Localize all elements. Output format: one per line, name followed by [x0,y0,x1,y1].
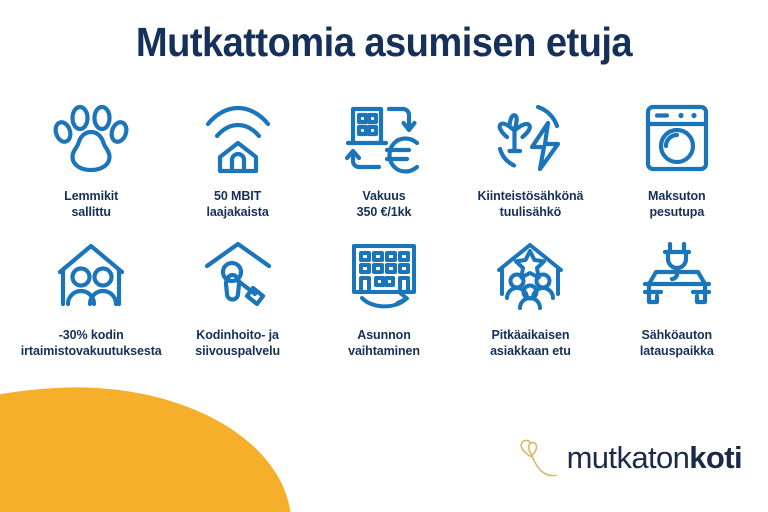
benefit-label: Pitkäaikaisen asiakkaan etu [490,327,571,359]
benefits-grid: Lemmikit sallittu 50 MBIT laajakaista [18,96,750,359]
heart-swoosh-icon [514,434,560,482]
benefit-label: Kodinhoito- ja siivouspalvelu [195,327,280,359]
benefit-item-cleaning: Kodinhoito- ja siivouspalvelu [164,234,310,359]
benefits-row-2: -30% kodin irtaimistovakuutuksesta Kodin… [18,234,750,359]
benefit-item-laundry: Maksuton pesutupa [604,96,750,220]
benefit-item-broadband: 50 MBIT laajakaista [164,96,310,220]
benefit-label: 50 MBIT laajakaista [207,188,269,220]
benefit-label: -30% kodin irtaimistovakuutuksesta [21,327,162,359]
benefit-label: Lemmikit sallittu [64,188,118,220]
benefit-item-ev-charging: Sähköauton latauspaikka [604,234,750,359]
benefit-item-home-insurance: -30% kodin irtaimistovakuutuksesta [18,234,164,359]
benefit-item-loyalty: Pitkäaikaisen asiakkaan etu [457,234,603,359]
benefit-label: Sähköauton latauspaikka [640,327,714,359]
decorative-yellow-blob [0,380,293,512]
apartment-swap-icon [345,234,423,318]
logo-text-bold: koti [689,440,742,475]
benefit-item-pets: Lemmikit sallittu [18,96,164,220]
benefits-row-1: Lemmikit sallittu 50 MBIT laajakaista [18,96,750,220]
logo-wordmark: mutkatonkoti [567,441,742,475]
wind-power-icon [490,96,570,180]
infographic-page: Mutkattomia asumisen etuja Lemmikit sall… [0,0,768,512]
wifi-house-icon [200,96,276,180]
cleaning-icon [200,234,276,318]
benefit-label: Asunnon vaihtaminen [348,327,420,359]
building-euro-icon [343,96,425,180]
benefit-item-deposit: Vakuus 350 €/1kk [311,96,457,220]
house-star-icon [491,234,569,318]
benefit-label: Kiinteistösähkönä tuulisähkö [477,188,583,220]
washing-machine-icon [641,96,713,180]
benefit-item-windpower: Kiinteistösähkönä tuulisähkö [457,96,603,220]
benefit-item-apartment-swap: Asunnon vaihtaminen [311,234,457,359]
paw-icon [52,96,130,180]
page-title: Mutkattomia asumisen etuja [27,18,741,66]
ev-charging-icon [637,234,717,318]
benefit-label: Vakuus 350 €/1kk [357,188,412,220]
logo-text-regular: mutkaton [567,440,690,475]
house-family-icon [52,234,130,318]
brand-logo[interactable]: mutkatonkoti [514,434,742,482]
benefit-label: Maksuton pesutupa [648,188,706,220]
